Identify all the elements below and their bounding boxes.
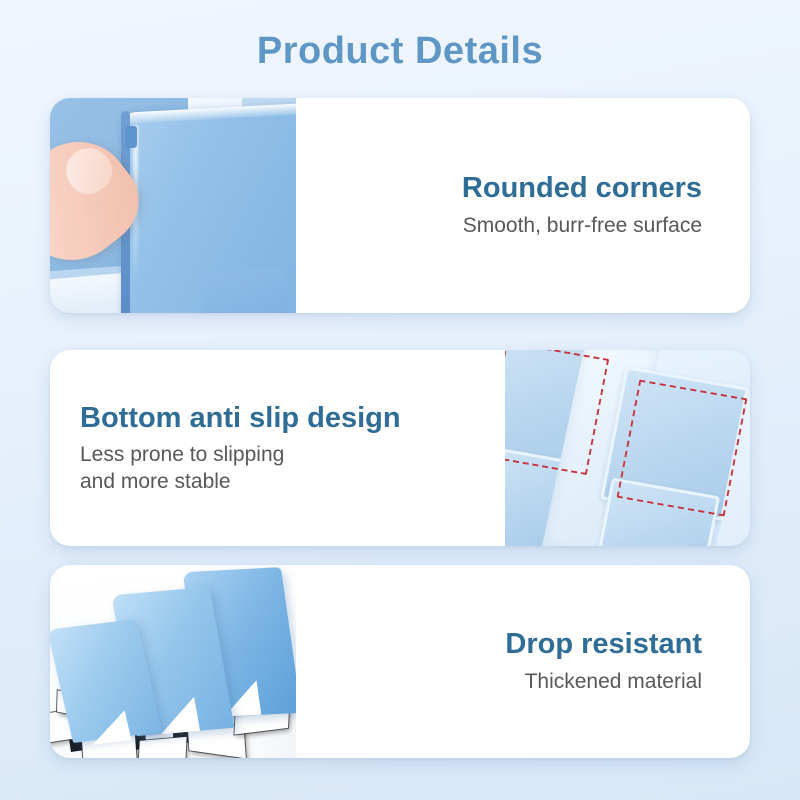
card-subtitle: Thickened material [525, 669, 702, 696]
anti-slip-text-block: Bottom anti slip design Less prone to sl… [50, 350, 505, 546]
bookend-foot [203, 267, 287, 313]
card-subtitle: Less prone to slipping and more stable [80, 442, 284, 496]
rounded-corners-product-image [50, 98, 296, 313]
card-title: Drop resistant [505, 627, 702, 661]
anti-slip-annotation-outline [616, 380, 747, 517]
rounded-corners-text-block: Rounded corners Smooth, burr-free surfac… [296, 98, 750, 313]
panel-notch [125, 126, 137, 149]
page-title: Product Details [0, 0, 800, 70]
feature-card-bottom-anti-slip[interactable]: Bottom anti slip design Less prone to sl… [50, 350, 750, 546]
feature-card-rounded-corners[interactable]: Rounded corners Smooth, burr-free surfac… [50, 98, 750, 313]
ground-shard [138, 737, 186, 758]
card-subtitle: Smooth, burr-free surface [463, 213, 702, 240]
drop-resistant-product-image [50, 565, 296, 758]
card-title: Bottom anti slip design [80, 401, 401, 435]
feature-card-drop-resistant[interactable]: Drop resistant Thickened material [50, 565, 750, 758]
anti-slip-product-image [505, 350, 750, 546]
card-title: Rounded corners [462, 171, 702, 205]
drop-resistant-text-block: Drop resistant Thickened material [296, 565, 750, 758]
